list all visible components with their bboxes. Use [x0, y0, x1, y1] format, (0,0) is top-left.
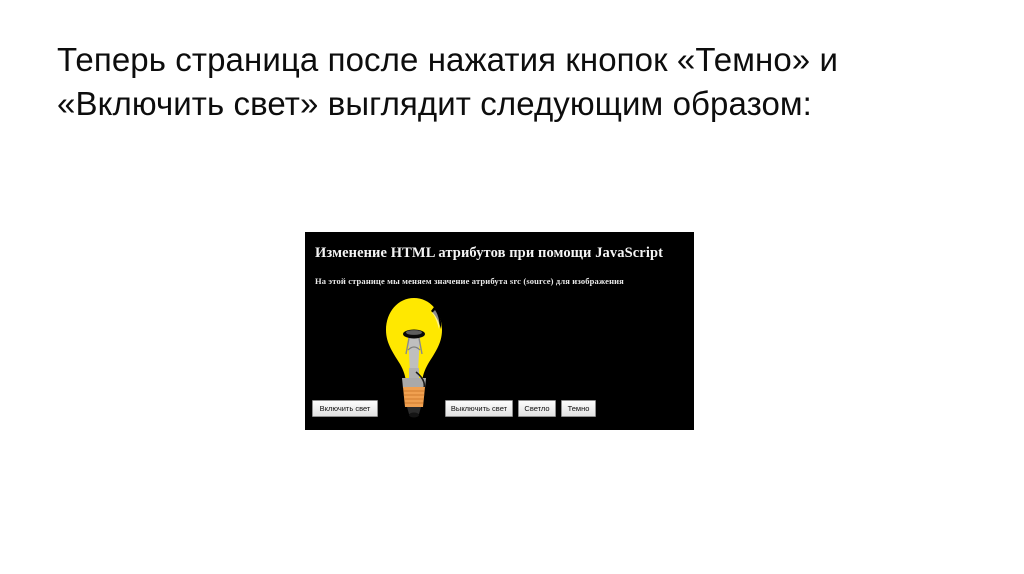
demo-page-subtitle: На этой странице мы меняем значение атри… [315, 276, 624, 287]
demo-page-button-row: Включить свет Выключить свет Светло Темн… [305, 400, 694, 422]
turn-on-light-button[interactable]: Включить свет [312, 400, 378, 417]
light-background-button[interactable]: Светло [518, 400, 556, 417]
dark-background-button[interactable]: Темно [561, 400, 596, 417]
turn-off-light-button[interactable]: Выключить свет [445, 400, 513, 417]
demo-page-title: Изменение HTML атрибутов при помощи Java… [315, 245, 663, 262]
embedded-browser-screenshot: Изменение HTML атрибутов при помощи Java… [305, 232, 694, 430]
slide-heading: Теперь страница после нажатия кнопок «Те… [57, 38, 947, 126]
